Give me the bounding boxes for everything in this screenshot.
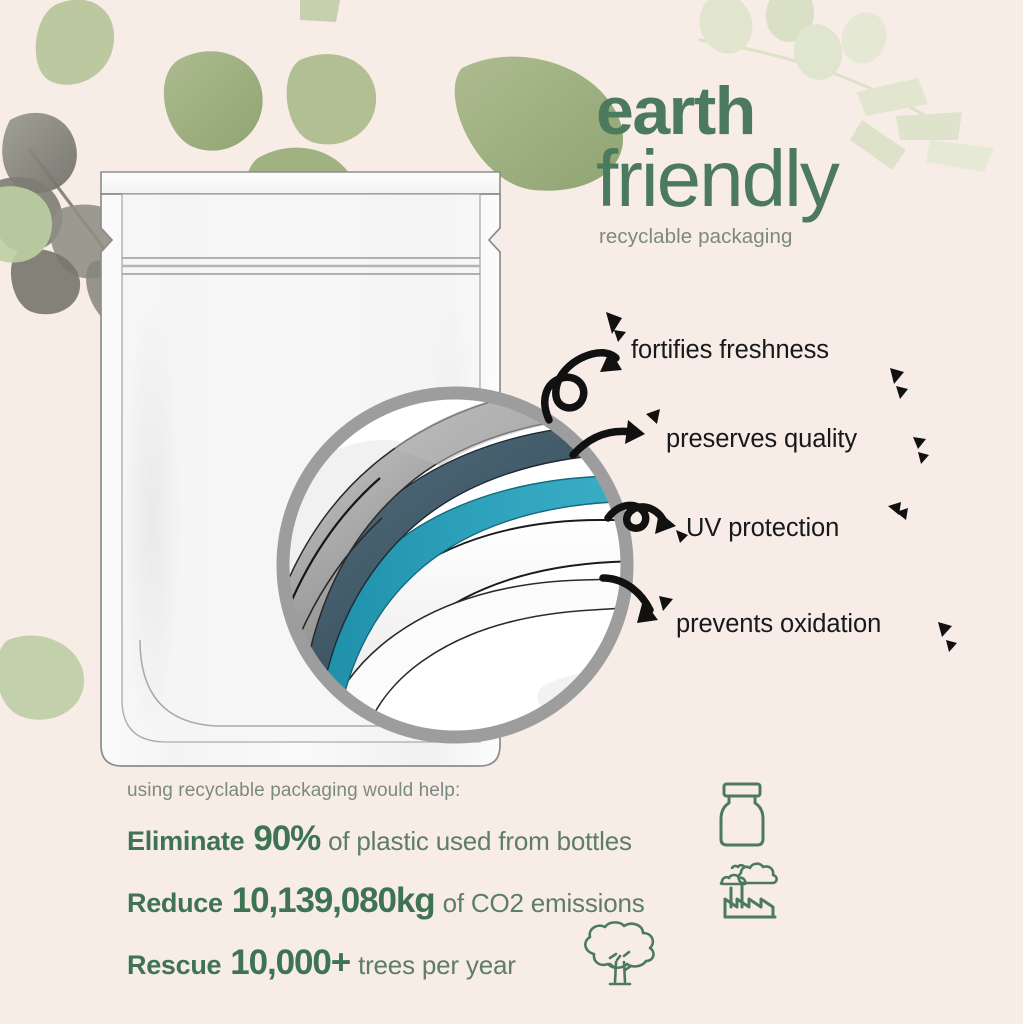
stat-tail: trees per year [358,950,516,981]
stat-row-eliminate: Eliminate 90% of plastic used from bottl… [127,819,887,859]
stat-verb: Eliminate [127,826,244,857]
headline-friendly: friendly [596,141,996,217]
feature-label-preserves-quality: preserves quality [666,425,857,454]
stats-intro: using recyclable packaging would help: [127,780,887,802]
arrow-to-uv-protection [608,505,664,528]
feature-label-uv-protection: UV protection [686,514,839,543]
tree-icon [572,920,668,992]
arrow-to-preserves-quality [573,431,632,455]
poster-canvas: earth friendly recyclable packaging fort… [0,0,1023,1024]
stat-number: 10,139,080kg [232,881,435,921]
stat-verb: Reduce [127,888,223,919]
factory-icon [718,855,784,921]
stat-verb: Rescue [127,950,221,981]
bottle-icon [712,781,772,849]
feature-label-fortifies-freshness: fortifies freshness [631,336,829,365]
headline-subtitle: recyclable packaging [596,225,996,249]
feature-label-prevents-oxidation: prevents oxidation [676,610,881,639]
stat-number: 10,000+ [230,943,350,983]
stat-tail: of plastic used from bottles [328,826,632,857]
stat-row-rescue: Rescue 10,000+ trees per year [127,943,887,983]
stat-number: 90% [253,819,320,859]
headline-block: earth friendly recyclable packaging [596,78,996,249]
arrowhead-2 [625,420,645,444]
stat-tail: of CO2 emissions [443,888,645,919]
